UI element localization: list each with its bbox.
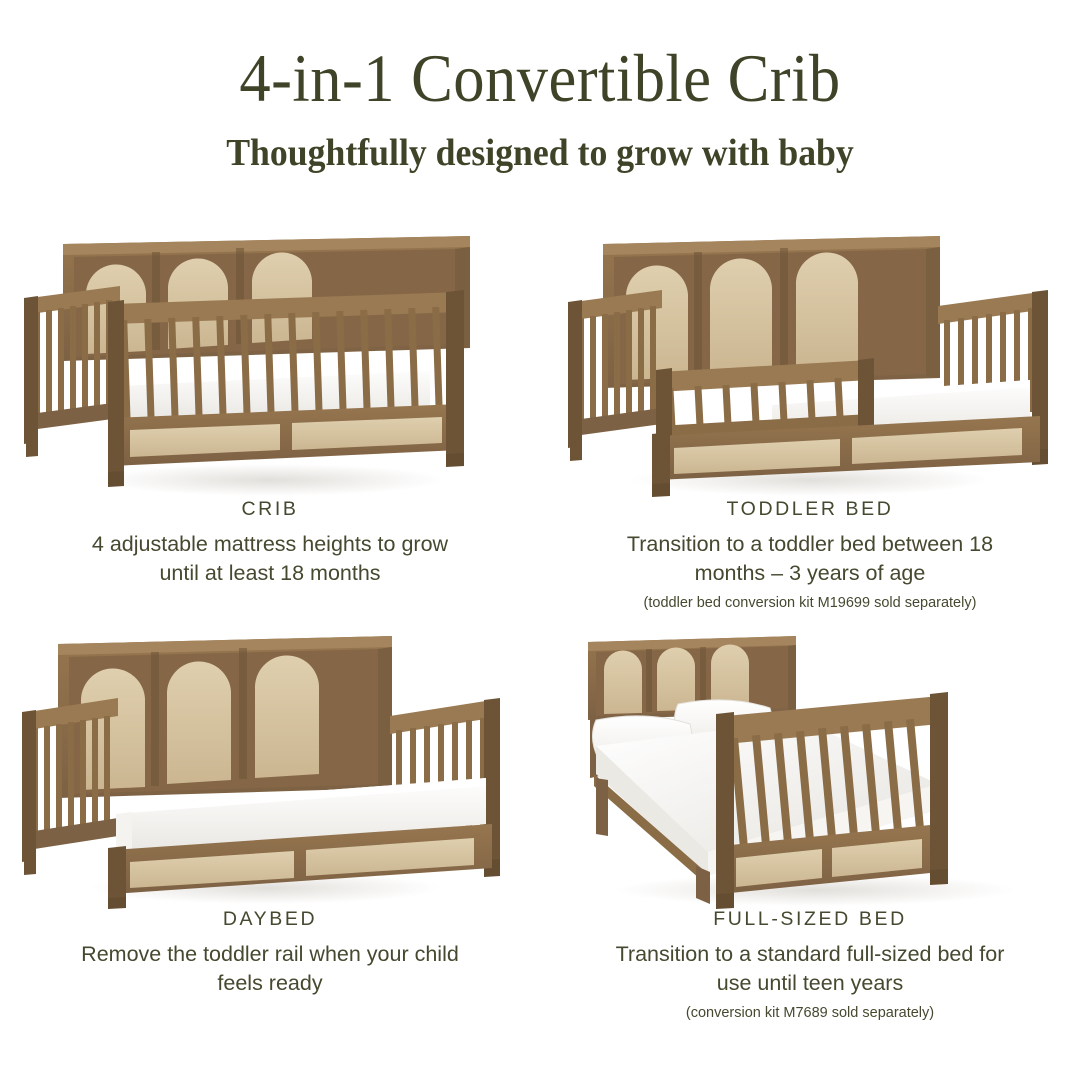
stage-card-full-sized-bed: FULL-SIZED BED Transition to a standard … bbox=[540, 628, 1080, 1080]
stage-note: (toddler bed conversion kit M19699 sold … bbox=[540, 594, 1080, 613]
daybed-figure bbox=[0, 628, 540, 908]
crib-figure bbox=[0, 228, 540, 498]
stage-title: CRIB bbox=[0, 498, 540, 521]
stage-title: DAYBED bbox=[0, 908, 540, 931]
stage-description: Transition to a standard full-sized bed … bbox=[610, 940, 1010, 997]
stage-title: TODDLER BED bbox=[540, 498, 1080, 521]
full-sized-bed-caption: FULL-SIZED BED Transition to a standard … bbox=[540, 908, 1080, 1023]
stage-title: FULL-SIZED BED bbox=[540, 908, 1080, 931]
stage-note: (conversion kit M7689 sold separately) bbox=[540, 1004, 1080, 1023]
stage-description: 4 adjustable mattress heights to grow un… bbox=[70, 530, 470, 587]
full-sized-bed-illustration bbox=[540, 628, 1080, 908]
crib-illustration bbox=[0, 228, 540, 498]
toddler-bed-caption: TODDLER BED Transition to a toddler bed … bbox=[540, 498, 1080, 613]
stage-description: Transition to a toddler bed between 18 m… bbox=[610, 530, 1010, 587]
toddler-bed-figure bbox=[540, 228, 1080, 498]
daybed-illustration bbox=[0, 628, 540, 908]
stage-card-crib: CRIB 4 adjustable mattress heights to gr… bbox=[0, 228, 540, 628]
header: 4-in-1 Convertible Crib Thoughtfully des… bbox=[0, 0, 1080, 172]
crib-caption: CRIB 4 adjustable mattress heights to gr… bbox=[0, 498, 540, 587]
conversion-stages-grid: CRIB 4 adjustable mattress heights to gr… bbox=[0, 228, 1080, 1080]
toddler-bed-illustration bbox=[540, 228, 1080, 498]
daybed-caption: DAYBED Remove the toddler rail when your… bbox=[0, 908, 540, 997]
page-title: 4-in-1 Convertible Crib bbox=[43, 44, 1037, 112]
stage-card-daybed: DAYBED Remove the toddler rail when your… bbox=[0, 628, 540, 1080]
stage-card-toddler-bed: TODDLER BED Transition to a toddler bed … bbox=[540, 228, 1080, 628]
stage-description: Remove the toddler rail when your child … bbox=[70, 940, 470, 997]
full-sized-bed-figure bbox=[540, 628, 1080, 908]
page-subtitle: Thoughtfully designed to grow with baby bbox=[32, 134, 1047, 172]
